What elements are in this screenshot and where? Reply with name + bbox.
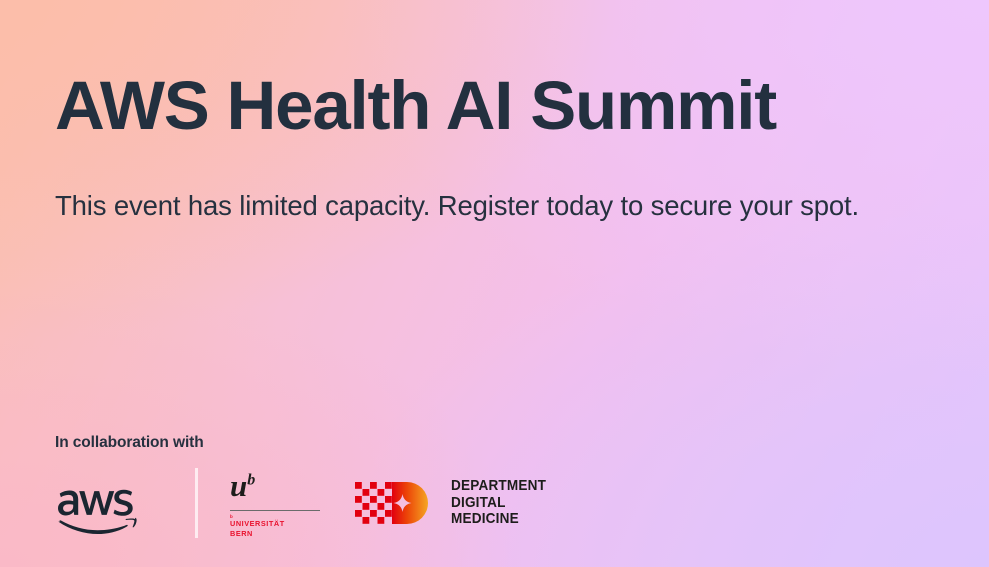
page-title: AWS Health AI Summit [55, 62, 975, 150]
unibe-line-1: UNIVERSITÄT [230, 519, 320, 528]
logo-divider [195, 468, 198, 538]
ddm-line-3: MEDICINE [451, 511, 546, 528]
unibe-rule [230, 510, 320, 511]
unibe-mark-superscript: b [247, 472, 255, 489]
unibe-mark: ub [230, 470, 320, 506]
ddm-line-2: DIGITAL [451, 495, 546, 512]
unibe-line-2: BERN [230, 529, 320, 538]
collaboration-label: In collaboration with [55, 433, 755, 452]
partners-section: In collaboration with [55, 433, 755, 545]
partner-logo-row: ub b UNIVERSITÄT BERN [55, 461, 755, 545]
ddm-wordmark: DEPARTMENT DIGITAL MEDICINE [451, 478, 546, 528]
aws-logo[interactable] [55, 471, 159, 535]
ddm-line-1: DEPARTMENT [451, 478, 546, 495]
ddm-checkerboard-d-sparkle-icon [355, 476, 437, 530]
page-subtitle: This event has limited capacity. Registe… [55, 188, 975, 224]
unibe-mark-letter: u [230, 468, 247, 503]
headline-block: AWS Health AI Summit This event has limi… [55, 62, 975, 224]
universitaet-bern-logo[interactable]: ub b UNIVERSITÄT BERN [230, 468, 320, 538]
department-digital-medicine-logo[interactable]: DEPARTMENT DIGITAL MEDICINE [355, 476, 553, 530]
event-hero-banner: AWS Health AI Summit This event has limi… [0, 0, 989, 567]
